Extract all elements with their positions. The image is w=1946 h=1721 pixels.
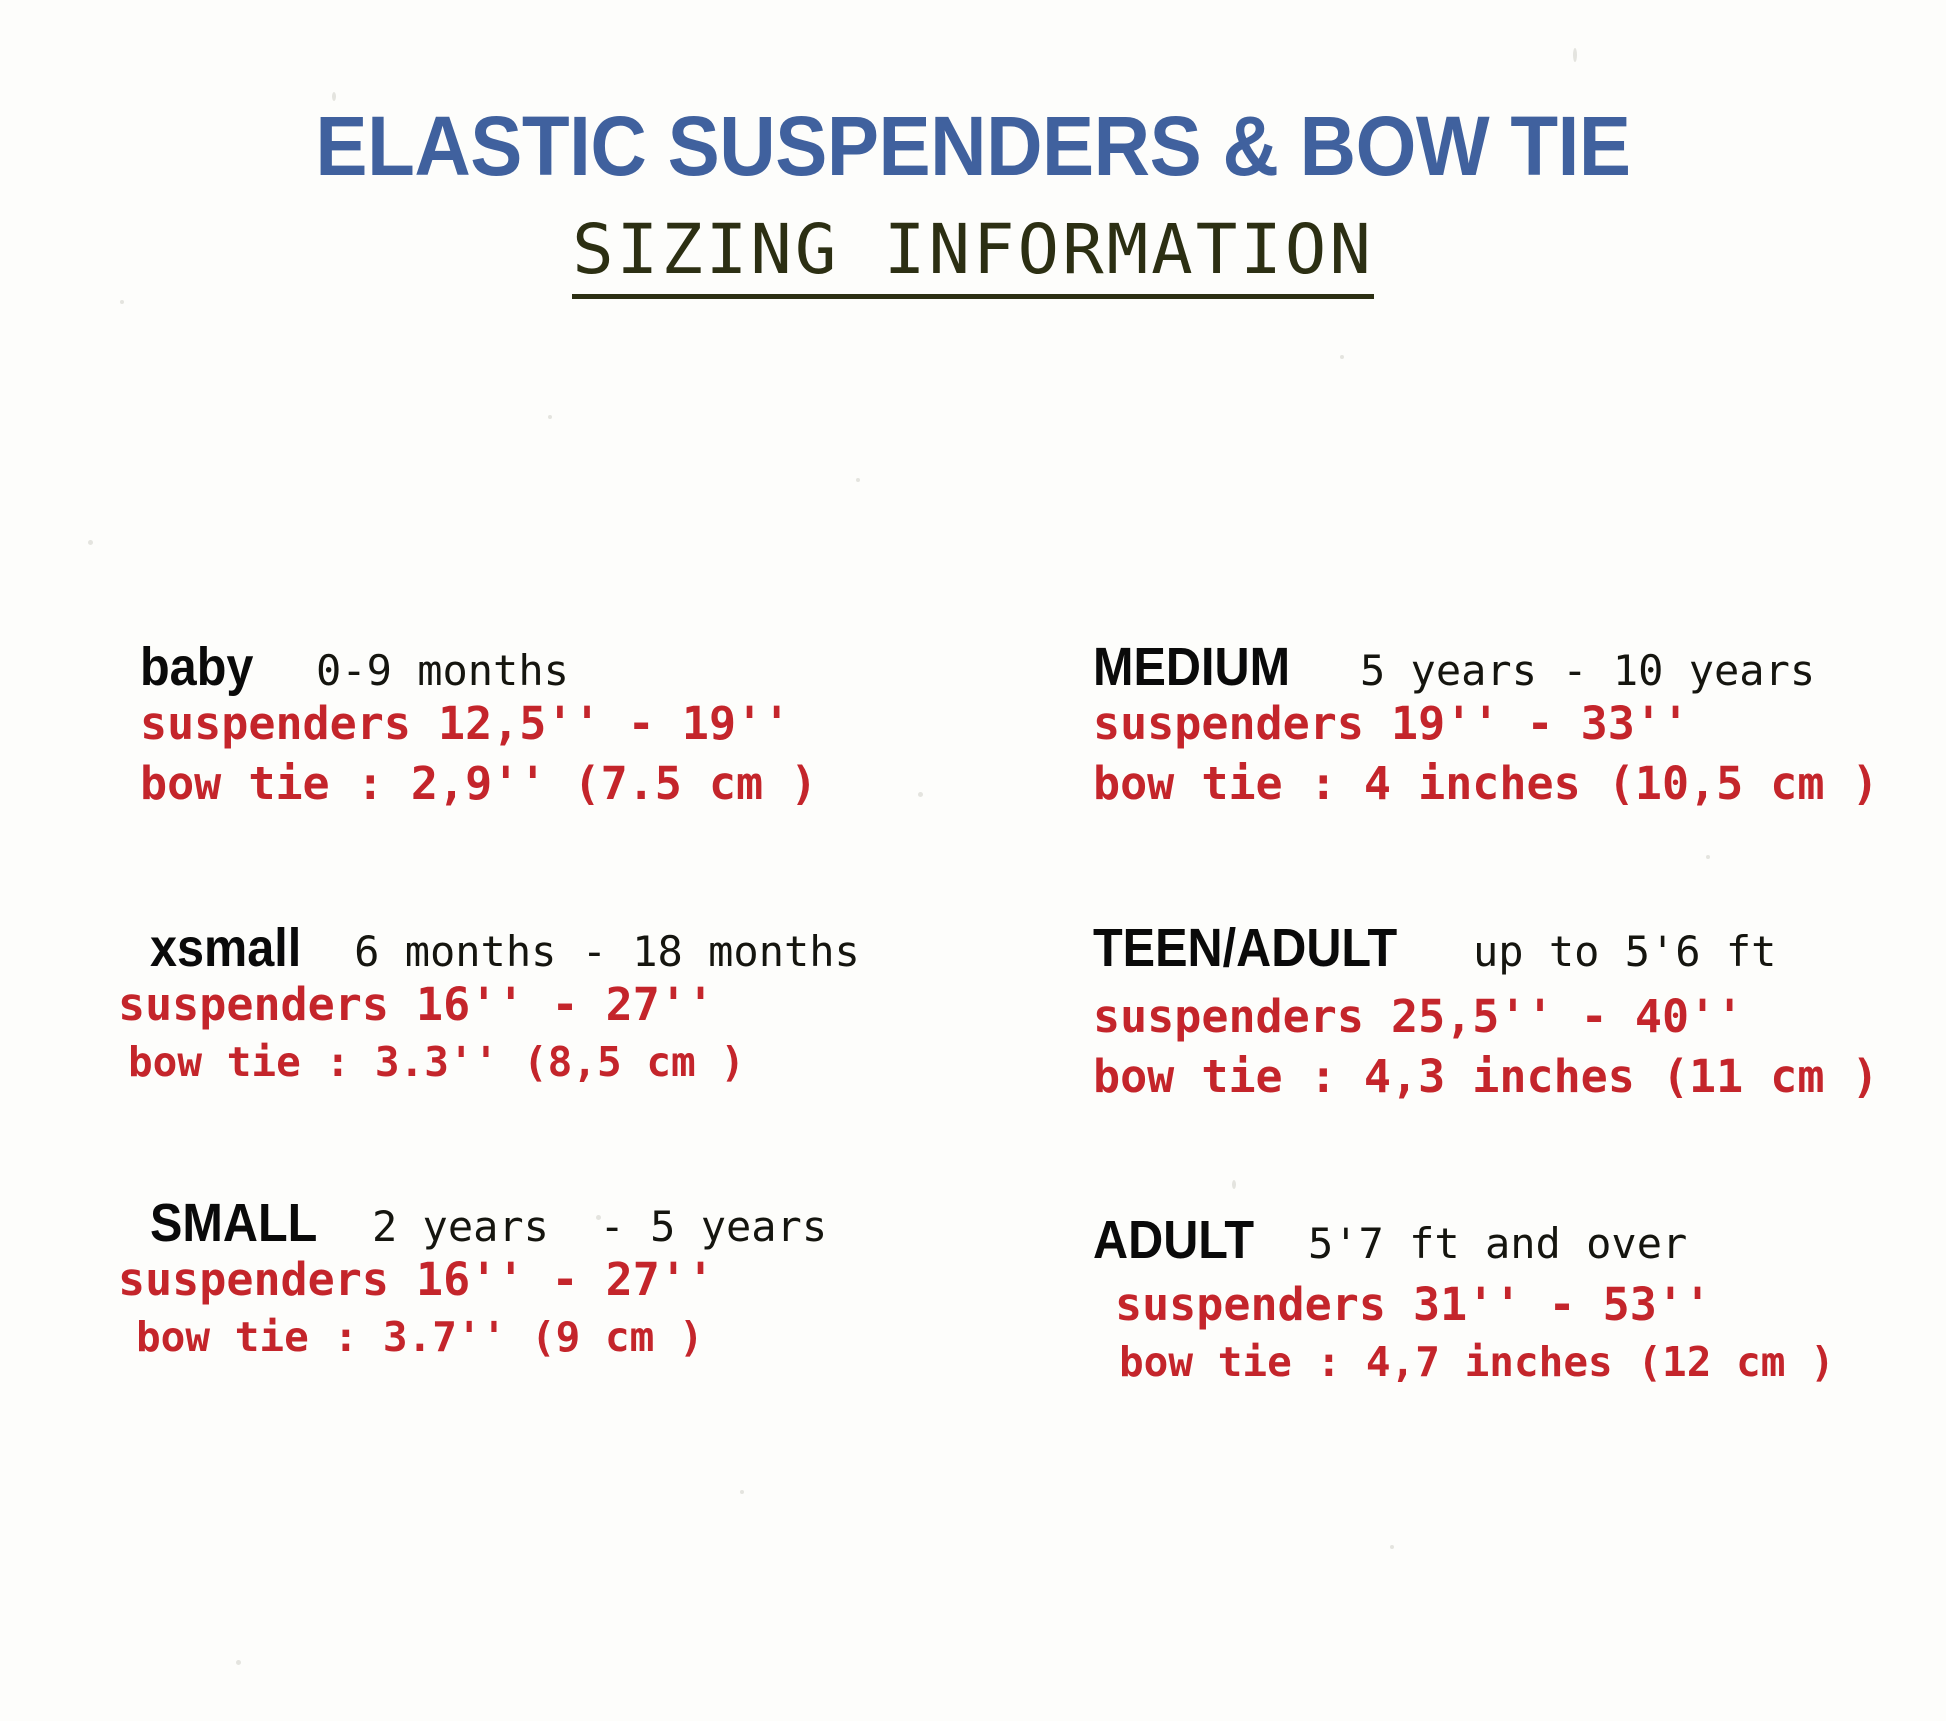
bow-tie-measurement-baby: bow tie : 2,9'' (7.5 cm )	[140, 754, 973, 814]
subtitle-wrapper: SIZING INFORMATION	[0, 210, 1946, 299]
size-name-small: SMALL	[150, 1196, 317, 1250]
bow-tie-measurement-adult: bow tie : 4,7 inches (12 cm )	[1119, 1335, 1946, 1390]
size-column-right: MEDIUM 5 years - 10 years suspenders 19'…	[973, 640, 1946, 1390]
size-name-medium: MEDIUM	[1093, 640, 1290, 694]
size-name-baby: baby	[140, 640, 253, 694]
size-name-teen-adult: TEEN/ADULT	[1093, 921, 1397, 975]
bow-tie-measurement-teen-adult: bow tie : 4,3 inches (11 cm )	[1093, 1047, 1946, 1107]
size-block-adult: ADULT 5'7 ft and over suspenders 31'' - …	[1093, 1213, 1946, 1390]
size-age-range-adult: 5'7 ft and over	[1308, 1223, 1687, 1265]
size-block-heading: TEEN/ADULT up to 5'6 ft	[1093, 921, 1946, 975]
size-block-heading: baby 0-9 months	[140, 640, 973, 694]
size-age-range-xsmall: 6 months - 18 months	[354, 931, 860, 973]
size-name-adult: ADULT	[1093, 1213, 1254, 1267]
paper-speck	[88, 540, 93, 545]
size-block-baby: baby 0-9 months suspenders 12,5'' - 19''…	[140, 640, 973, 815]
suspenders-measurement-small: suspenders 16'' - 27''	[118, 1250, 973, 1310]
bow-tie-measurement-xsmall: bow tie : 3.3'' (8,5 cm )	[128, 1035, 973, 1090]
size-block-heading: ADULT 5'7 ft and over	[1093, 1213, 1946, 1267]
paper-speck	[1340, 355, 1344, 359]
page-title: ELASTIC SUSPENDERS & BOW TIE	[68, 0, 1878, 188]
paper-speck	[1390, 1545, 1394, 1549]
size-columns: baby 0-9 months suspenders 12,5'' - 19''…	[0, 640, 1946, 1390]
size-name-xsmall: xsmall	[150, 921, 301, 975]
suspenders-measurement-medium: suspenders 19'' - 33''	[1093, 694, 1946, 754]
suspenders-measurement-xsmall: suspenders 16'' - 27''	[118, 975, 973, 1035]
size-block-heading: SMALL 2 years - 5 years	[140, 1196, 973, 1250]
size-age-range-medium: 5 years - 10 years	[1360, 650, 1815, 692]
size-age-range-teen-adult: up to 5'6 ft	[1473, 931, 1776, 973]
bow-tie-measurement-medium: bow tie : 4 inches (10,5 cm )	[1093, 754, 1946, 814]
size-age-range-small: 2 years - 5 years	[372, 1206, 827, 1248]
suspenders-measurement-teen-adult: suspenders 25,5'' - 40''	[1093, 987, 1946, 1047]
page-subtitle: SIZING INFORMATION	[572, 210, 1374, 299]
paper-speck	[548, 415, 552, 419]
suspenders-measurement-adult: suspenders 31'' - 53''	[1115, 1275, 1946, 1335]
size-block-small: SMALL 2 years - 5 years suspenders 16'' …	[140, 1196, 973, 1365]
size-age-range-baby: 0-9 months	[316, 650, 569, 692]
bow-tie-measurement-small: bow tie : 3.7'' (9 cm )	[136, 1310, 973, 1365]
paper-speck	[856, 478, 860, 482]
paper-speck	[740, 1490, 744, 1494]
size-block-medium: MEDIUM 5 years - 10 years suspenders 19'…	[1093, 640, 1946, 815]
size-block-heading: MEDIUM 5 years - 10 years	[1093, 640, 1946, 694]
size-block-xsmall: xsmall 6 months - 18 months suspenders 1…	[140, 921, 973, 1090]
suspenders-measurement-baby: suspenders 12,5'' - 19''	[140, 694, 973, 754]
paper-speck	[236, 1660, 241, 1665]
size-block-heading: xsmall 6 months - 18 months	[140, 921, 973, 975]
chart-header: ELASTIC SUSPENDERS & BOW TIE SIZING INFO…	[0, 0, 1946, 299]
paper-speck	[120, 300, 124, 304]
size-block-teen-adult: TEEN/ADULT up to 5'6 ft suspenders 25,5'…	[1093, 921, 1946, 1108]
sizing-chart-sheet: ELASTIC SUSPENDERS & BOW TIE SIZING INFO…	[0, 0, 1946, 1721]
size-column-left: baby 0-9 months suspenders 12,5'' - 19''…	[0, 640, 973, 1390]
